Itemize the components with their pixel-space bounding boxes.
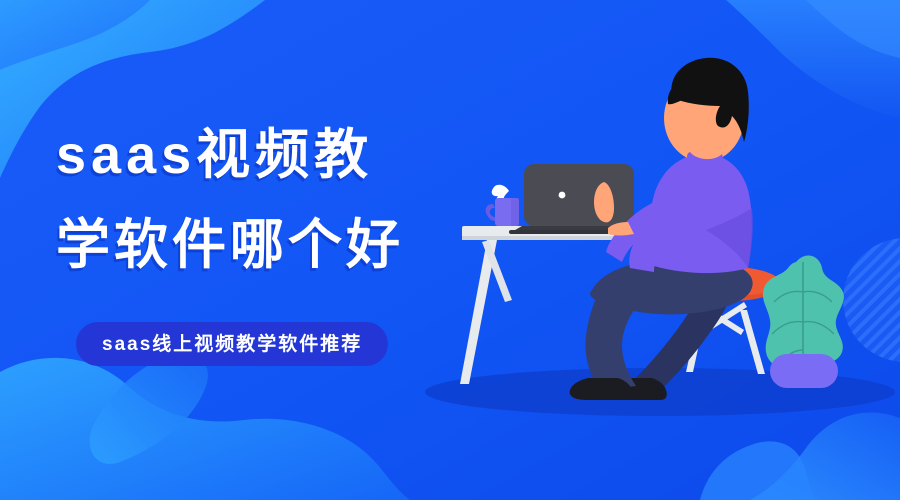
text-content: saas视频教 学软件哪个好 saas线上视频教学软件推荐 xyxy=(0,0,900,500)
headline-line-2: 学软件哪个好 xyxy=(56,218,404,272)
subtitle-text: saas线上视频教学软件推荐 xyxy=(102,335,362,354)
headline-line-1: saas视频教 xyxy=(56,128,373,182)
subtitle-pill: saas线上视频教学软件推荐 xyxy=(76,322,388,366)
promo-banner: saas视频教 学软件哪个好 saas线上视频教学软件推荐 xyxy=(0,0,900,500)
